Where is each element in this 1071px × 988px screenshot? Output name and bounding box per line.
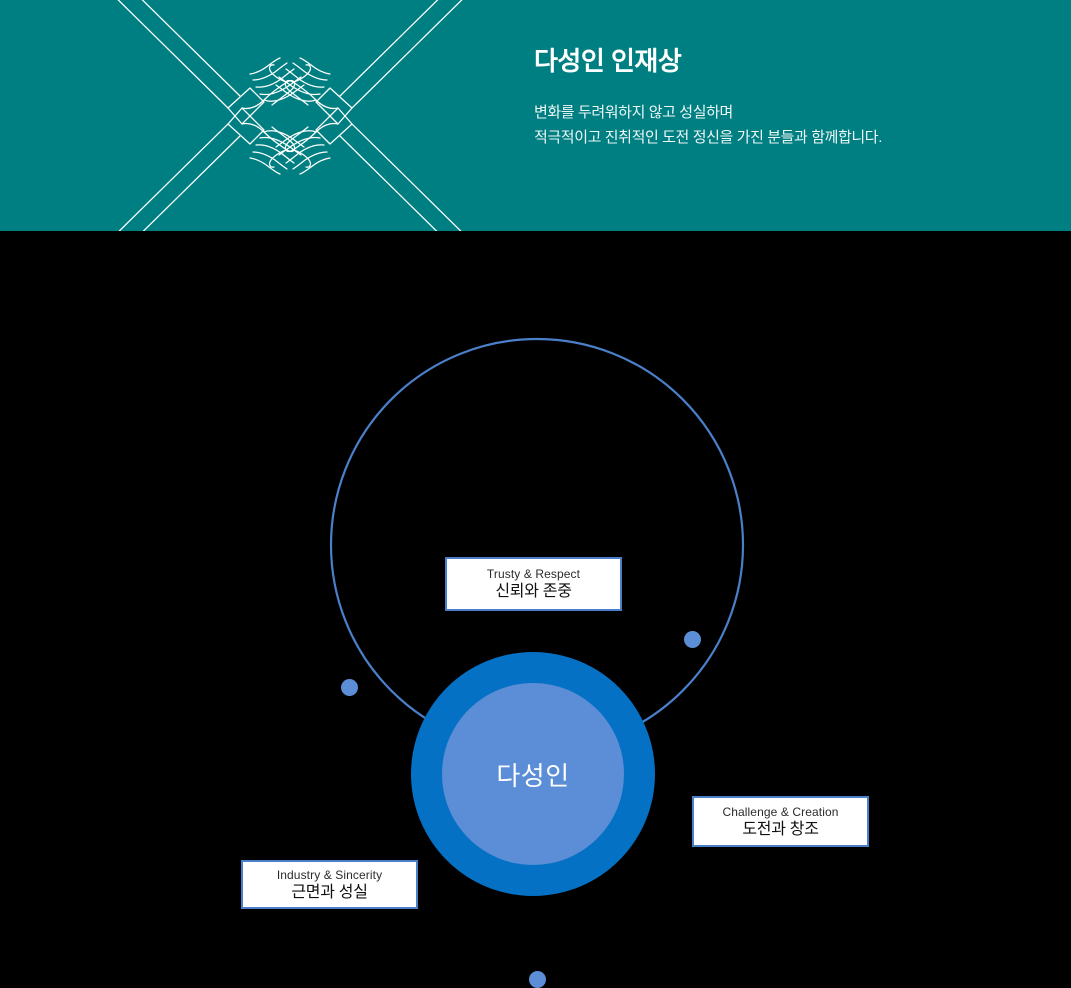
value-box-challenge[interactable]: Challenge & Creation 도전과 창조: [692, 796, 869, 847]
value-english-challenge: Challenge & Creation: [722, 804, 838, 820]
hero-subtitle-line-2: 적극적이고 진취적인 도전 정신을 가진 분들과 함께합니다.: [534, 125, 1054, 150]
value-korean-trust: 신뢰와 존중: [495, 582, 571, 602]
value-korean-industry: 근면과 성실: [291, 883, 367, 903]
values-diagram: 다성인 Trusty & Respect 신뢰와 존중 Challenge & …: [0, 231, 1071, 871]
orbit-dot-south: [529, 971, 546, 988]
value-english-trust: Trusty & Respect: [487, 566, 580, 582]
value-box-trust[interactable]: Trusty & Respect 신뢰와 존중: [445, 557, 622, 611]
value-korean-challenge: 도전과 창조: [742, 820, 818, 840]
page-title: 다성인 인재상: [534, 44, 1054, 78]
handshake-illustration: [110, 0, 470, 231]
hero-banner: 다성인 인재상 변화를 두려워하지 않고 성실하며 적극적이고 진취적인 도전 …: [0, 0, 1071, 231]
value-english-industry: Industry & Sincerity: [277, 867, 382, 883]
hero-subtitle-line-1: 변화를 두려워하지 않고 성실하며: [534, 100, 1054, 125]
core-inner-circle: 다성인: [442, 683, 624, 865]
value-box-industry[interactable]: Industry & Sincerity 근면과 성실: [241, 860, 418, 909]
hero-text-block: 다성인 인재상 변화를 두려워하지 않고 성실하며 적극적이고 진취적인 도전 …: [534, 44, 1054, 150]
orbit-dot-west: [341, 679, 358, 696]
orbit-dot-northeast: [684, 631, 701, 648]
core-label: 다성인: [496, 756, 569, 793]
